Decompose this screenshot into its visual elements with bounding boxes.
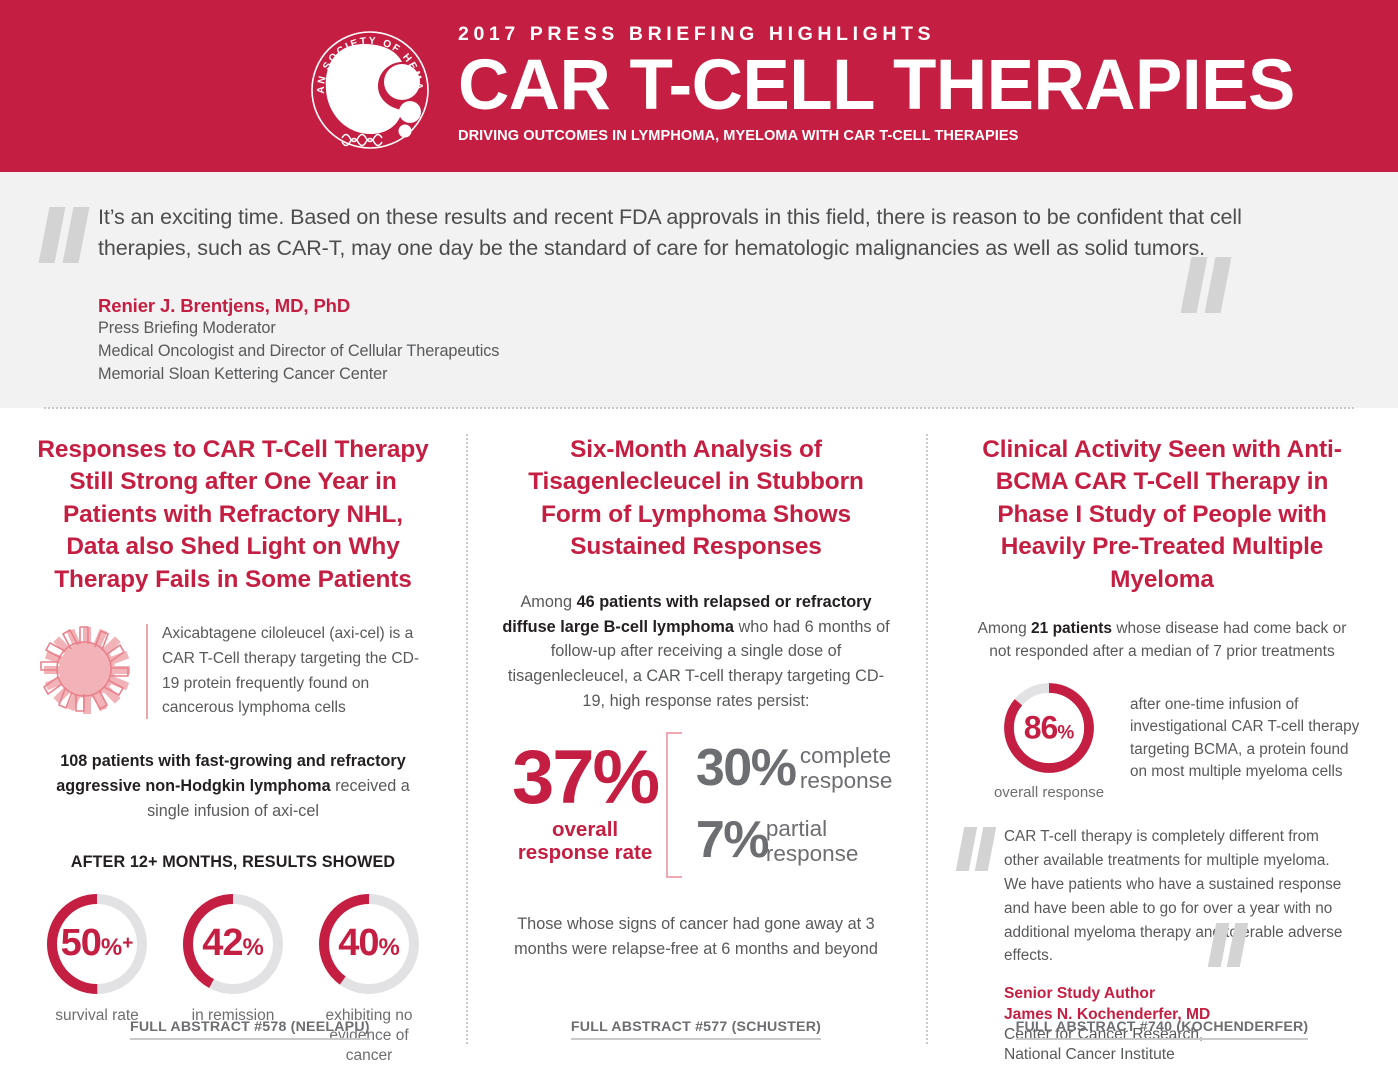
abstract-link-cell-3: FULL ABSTRACT #740 (KOCHENDERFER): [926, 1018, 1398, 1040]
cell-info-block: Axicabtagene ciloleucel (axi-cel) is a C…: [30, 620, 436, 723]
header-kicker: 2017 PRESS BRIEFING HIGHLIGHTS: [458, 24, 1058, 45]
response-stats-block: 37% overall response rate 30% complete r…: [496, 732, 896, 878]
lymphoma-cell-icon: [38, 622, 136, 723]
column-3-lead: Among 21 patients whose disease had come…: [960, 618, 1364, 664]
donut-remission-number: 42: [202, 922, 242, 964]
stat-bracket: [666, 732, 682, 878]
partial-response-caption: partial response: [766, 816, 896, 866]
story-column-2: Six-Month Analysis of Tisagenlecleucel i…: [466, 434, 926, 1066]
donut-survival-plus: +: [122, 933, 133, 954]
partial-response-value: 7%: [696, 817, 758, 865]
quote-close-icon: [1186, 257, 1234, 318]
complete-response-value: 30%: [696, 745, 792, 793]
quote-author-org: Memorial Sloan Kettering Cancer Center: [98, 363, 1298, 386]
donut-86-number: 86: [1024, 710, 1058, 746]
column-2-footnote: Those whose signs of cancer had gone awa…: [496, 912, 896, 962]
abstract-link-cell-2: FULL ABSTRACT #577 (SCHUSTER): [466, 1018, 926, 1040]
quote-open-icon: [44, 207, 92, 268]
story-column-1: Responses to CAR T-Cell Therapy Still St…: [0, 434, 466, 1066]
quote-author-name: Renier J. Brentjens, MD, PhD: [98, 295, 1298, 317]
abstract-link-cell-1: FULL ABSTRACT #578 (NEELAPU): [0, 1018, 466, 1040]
complete-response-stat: 30% complete response: [696, 743, 896, 793]
partial-response-stat: 7% partial response: [696, 816, 896, 866]
column-3-lead-bold: 21 patients: [1031, 620, 1112, 637]
page-title: CAR T-CELL THERAPIES: [458, 53, 1058, 118]
orr-value: 37%: [512, 744, 658, 812]
column-1-lead: 108 patients with fast-growing and refra…: [30, 749, 436, 823]
donut-remission-value: 42%: [179, 924, 287, 962]
column-3-author-org2: National Cancer Institute: [1004, 1045, 1364, 1065]
donut-remission-percent: %: [242, 934, 263, 961]
donut-86-caption: overall response: [974, 784, 1124, 801]
column-1-title: Responses to CAR T-Cell Therapy Still St…: [30, 434, 436, 596]
bcma-description: after one-time infusion of investigation…: [1124, 680, 1364, 783]
donut-survival-value: 50%+: [43, 924, 151, 962]
column-3-quote-open-icon: [960, 827, 998, 876]
column-2-lead-pre: Among: [520, 593, 576, 611]
column-3-lead-pre: Among: [978, 620, 1031, 637]
donut-no-evidence-number: 40: [338, 922, 378, 964]
donut-86-value: 86%: [1001, 712, 1097, 744]
quote-text: It’s an exciting time. Based on these re…: [98, 202, 1258, 263]
donut-no-evidence-value: 40%: [315, 924, 423, 962]
cell-divider-rule: [146, 624, 148, 719]
full-abstract-740-link[interactable]: FULL ABSTRACT #740 (KOCHENDERFER): [1016, 1019, 1309, 1040]
column-3-title: Clinical Activity Seen with Anti-BCMA CA…: [960, 434, 1364, 596]
quote-attribution: Renier J. Brentjens, MD, PhD Press Brief…: [98, 295, 1298, 386]
column-3-author-role: Senior Study Author: [1004, 984, 1364, 1004]
kochenderfer-quote: CAR T-cell therapy is completely differe…: [960, 825, 1364, 968]
column-3-quote-close-icon: [1212, 923, 1250, 972]
story-column-3: Clinical Activity Seen with Anti-BCMA CA…: [926, 434, 1398, 1066]
orr-caption: overall response rate: [512, 819, 658, 865]
horizontal-divider: [44, 407, 1354, 409]
donut-survival-percent: %: [101, 934, 122, 961]
column-3-quote-text: CAR T-cell therapy is completely differe…: [1004, 825, 1354, 968]
donut-86-percent: %: [1057, 723, 1074, 744]
full-abstract-577-link[interactable]: FULL ABSTRACT #577 (SCHUSTER): [571, 1019, 821, 1040]
donut-survival-number: 50: [61, 922, 101, 964]
column-2-title: Six-Month Analysis of Tisagenlecleucel i…: [496, 434, 896, 564]
quote-author-title: Medical Oncologist and Director of Cellu…: [98, 340, 1298, 363]
ash-logo: AMERICAN SOCIETY OF HEMATOLOGY: [302, 16, 438, 156]
donut-overall-response: 86% overall response: [974, 680, 1124, 801]
results-label: AFTER 12+ MONTHS, RESULTS SHOWED: [30, 853, 436, 872]
complete-response-caption: complete response: [800, 743, 896, 793]
header-subtitle: DRIVING OUTCOMES IN LYMPHOMA, MYELOMA WI…: [458, 128, 1058, 144]
quote-author-role: Press Briefing Moderator: [98, 317, 1298, 340]
overall-response-rate-stat: 37% overall response rate: [512, 744, 658, 864]
bcma-response-block: 86% overall response after one-time infu…: [960, 680, 1364, 801]
full-abstract-578-link[interactable]: FULL ABSTRACT #578 (NEELAPU): [130, 1019, 370, 1040]
cell-caption: Axicabtagene ciloleucel (axi-cel) is a C…: [162, 620, 436, 721]
featured-quote-section: It’s an exciting time. Based on these re…: [0, 172, 1398, 408]
donut-no-evidence-percent: %: [378, 934, 399, 961]
abstract-links-row: FULL ABSTRACT #578 (NEELAPU) FULL ABSTRA…: [0, 1018, 1398, 1040]
page-header: AMERICAN SOCIETY OF HEMATOLOGY 2017 PRES…: [0, 0, 1398, 172]
column-2-lead: Among 46 patients with relapsed or refra…: [496, 590, 896, 714]
